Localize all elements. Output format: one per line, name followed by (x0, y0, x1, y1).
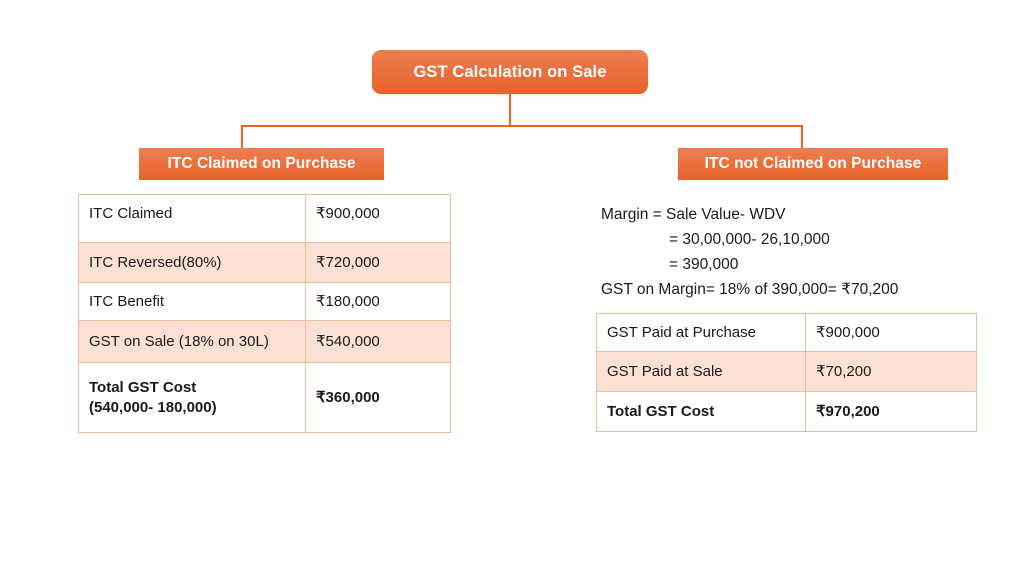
branch-header-itc-not-claimed: ITC not Claimed on Purchase (678, 148, 948, 180)
connector-drop-right (801, 125, 803, 149)
row-value: ₹720,000 (306, 243, 451, 283)
table-row: ITC Claimed ₹900,000 (79, 195, 451, 243)
row-label-line1: Total GST Cost (89, 378, 295, 397)
table-row: GST Paid at Sale ₹70,200 (597, 352, 977, 392)
row-value: ₹970,200 (806, 392, 977, 432)
itc-not-claimed-table: GST Paid at Purchase ₹900,000 GST Paid a… (596, 313, 977, 432)
row-label: Total GST Cost (540,000- 180,000) (79, 363, 306, 433)
table-row: GST Paid at Purchase ₹900,000 (597, 314, 977, 352)
table-row: ITC Reversed(80%) ₹720,000 (79, 243, 451, 283)
row-label: ITC Claimed (79, 195, 306, 243)
margin-formula-block: Margin = Sale Value- WDV = 30,00,000- 26… (601, 202, 971, 302)
row-value: ₹900,000 (306, 195, 451, 243)
table-row-total: Total GST Cost (540,000- 180,000) ₹360,0… (79, 363, 451, 433)
formula-line-4: GST on Margin= 18% of 390,000= ₹70,200 (601, 277, 971, 302)
table-row: ITC Benefit ₹180,000 (79, 283, 451, 321)
row-value: ₹360,000 (306, 363, 451, 433)
row-label: GST on Sale (18% on 30L) (79, 321, 306, 363)
row-value: ₹540,000 (306, 321, 451, 363)
row-value: ₹180,000 (306, 283, 451, 321)
connector-horizontal-bus (241, 125, 803, 127)
table-row-total: Total GST Cost ₹970,200 (597, 392, 977, 432)
row-label: Total GST Cost (597, 392, 806, 432)
connector-drop-left (241, 125, 243, 149)
row-value: ₹70,200 (806, 352, 977, 392)
row-label: GST Paid at Purchase (597, 314, 806, 352)
row-label-line2: (540,000- 180,000) (89, 398, 295, 417)
root-node-gst-calculation: GST Calculation on Sale (372, 50, 648, 94)
root-node-label: GST Calculation on Sale (413, 63, 606, 82)
branch-header-itc-claimed: ITC Claimed on Purchase (139, 148, 384, 180)
branch-header-left-label: ITC Claimed on Purchase (167, 155, 355, 173)
row-value: ₹900,000 (806, 314, 977, 352)
row-label: GST Paid at Sale (597, 352, 806, 392)
formula-line-3: = 390,000 (601, 252, 971, 277)
row-label: ITC Benefit (79, 283, 306, 321)
row-label: ITC Reversed(80%) (79, 243, 306, 283)
connector-stem-vertical (509, 94, 511, 127)
itc-claimed-table: ITC Claimed ₹900,000 ITC Reversed(80%) ₹… (78, 194, 451, 433)
branch-header-right-label: ITC not Claimed on Purchase (705, 155, 922, 173)
table-row: GST on Sale (18% on 30L) ₹540,000 (79, 321, 451, 363)
formula-line-1: Margin = Sale Value- WDV (601, 202, 971, 227)
formula-line-2: = 30,00,000- 26,10,000 (601, 227, 971, 252)
